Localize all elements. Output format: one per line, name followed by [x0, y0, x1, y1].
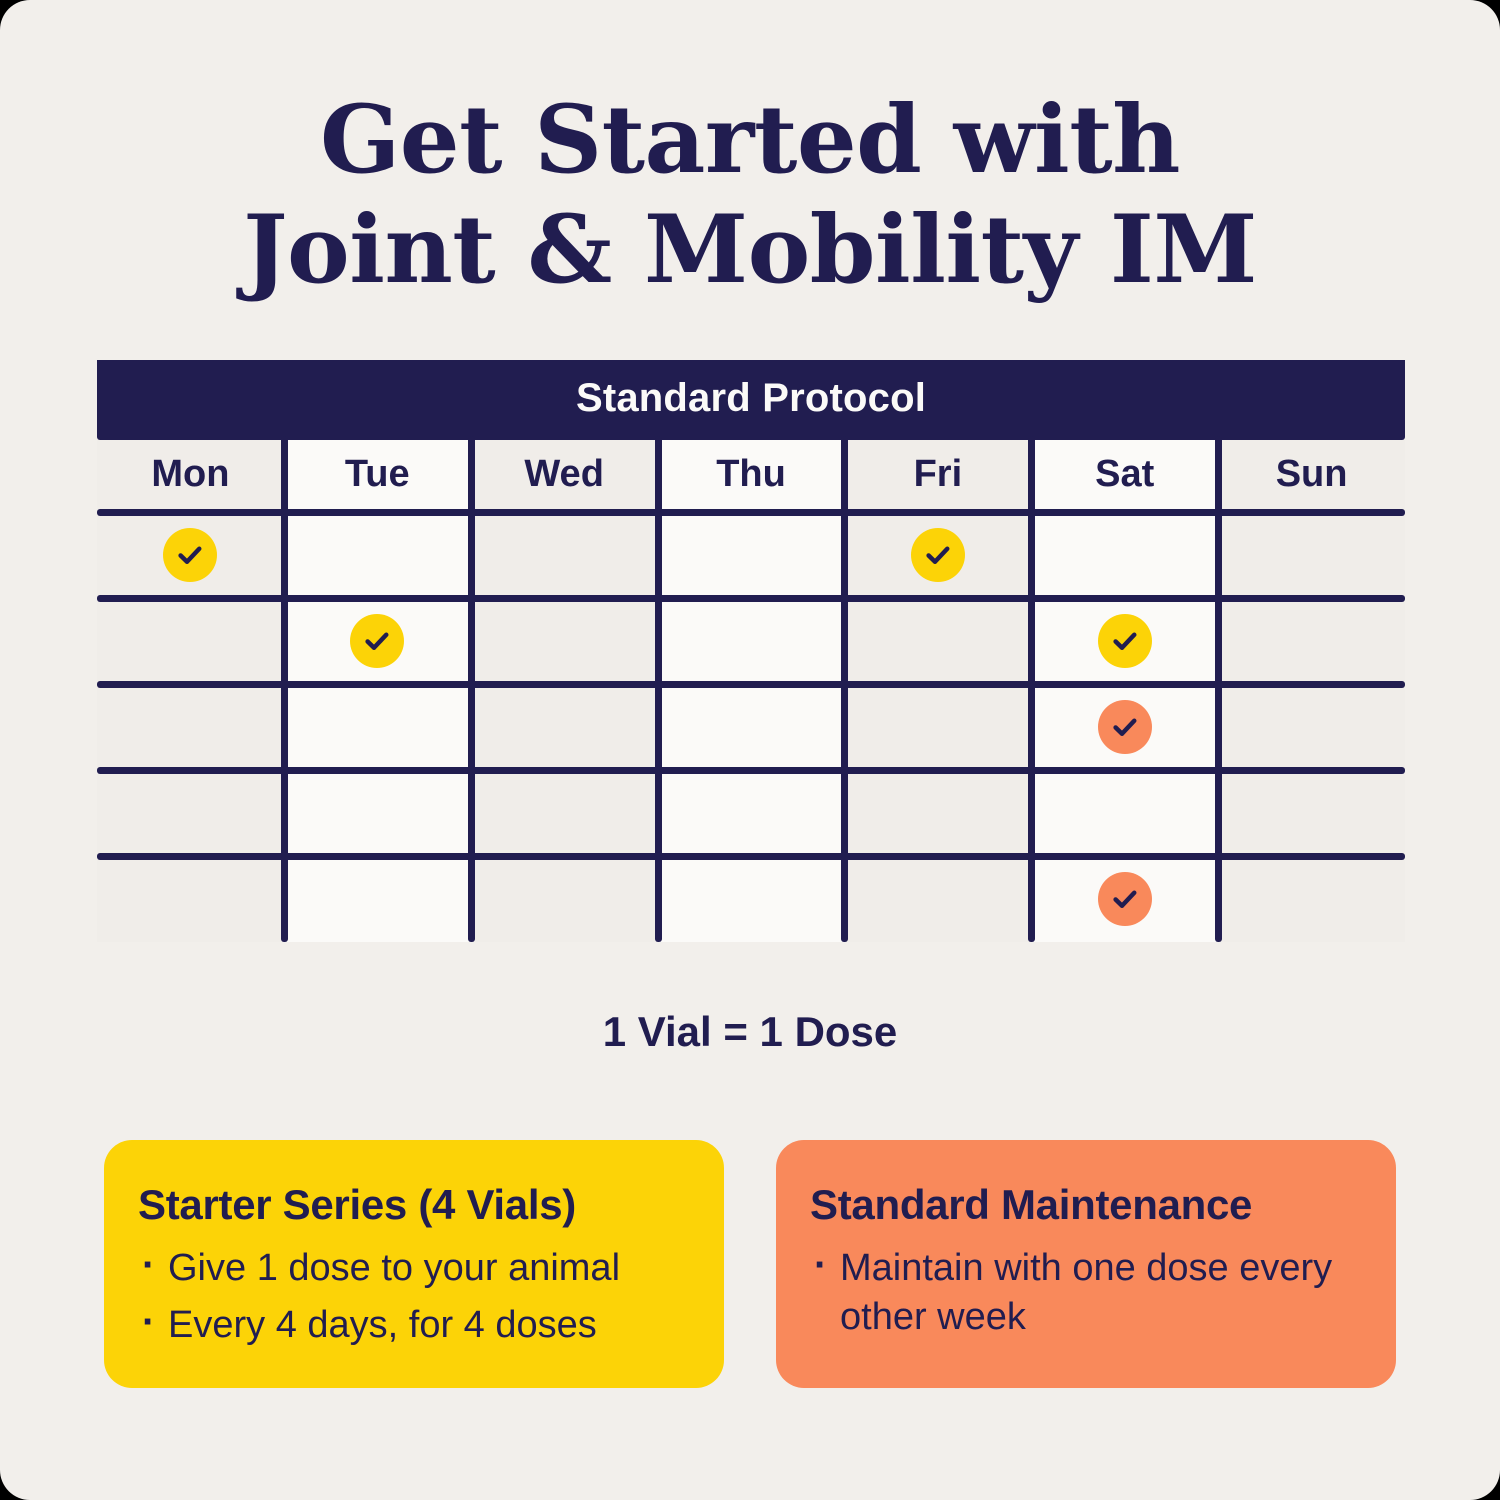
grid-vertical-rule [468, 436, 475, 942]
schedule-cell-sun-1[interactable] [1218, 512, 1405, 598]
day-header-fri: Fri [844, 436, 1031, 512]
day-header-label: Thu [716, 453, 786, 496]
schedule-cell-thu-1[interactable] [658, 512, 845, 598]
schedule-cell-mon-1[interactable] [97, 512, 284, 598]
legend-card-starter-series: Starter Series (4 Vials) Give 1 dose to … [104, 1140, 724, 1388]
schedule-cell-sun-3[interactable] [1218, 684, 1405, 770]
table-header-band: Standard Protocol [97, 360, 1405, 436]
schedule-cell-fri-3[interactable] [844, 684, 1031, 770]
protocol-schedule-table: Standard Protocol MonTueWedThuFriSatSun [97, 360, 1405, 942]
schedule-cell-wed-1[interactable] [471, 512, 658, 598]
schedule-cell-fri-4[interactable] [844, 770, 1031, 856]
day-header-mon: Mon [97, 436, 284, 512]
check-icon [1098, 614, 1152, 668]
schedule-cell-wed-3[interactable] [471, 684, 658, 770]
schedule-row [97, 598, 1405, 684]
grid-vertical-rule [1215, 436, 1222, 942]
vial-dose-note: 1 Vial = 1 Dose [0, 1008, 1500, 1056]
schedule-cell-sat-1[interactable] [1031, 512, 1218, 598]
schedule-cell-sat-4[interactable] [1031, 770, 1218, 856]
day-header-label: Mon [151, 453, 229, 496]
day-header-sat: Sat [1031, 436, 1218, 512]
grid-vertical-rule [655, 436, 662, 942]
schedule-cell-sun-5[interactable] [1218, 856, 1405, 942]
schedule-cell-tue-1[interactable] [284, 512, 471, 598]
schedule-cell-sat-3[interactable] [1031, 684, 1218, 770]
day-header-label: Sun [1276, 453, 1348, 496]
list-item: Maintain with one dose every other week [810, 1244, 1362, 1341]
day-header-row: MonTueWedThuFriSatSun [97, 436, 1405, 512]
schedule-cell-mon-4[interactable] [97, 770, 284, 856]
list-item: Every 4 days, for 4 doses [138, 1301, 690, 1350]
day-header-wed: Wed [471, 436, 658, 512]
grid-horizontal-rule [97, 433, 1405, 440]
grid-horizontal-rule [97, 509, 1405, 516]
schedule-cell-mon-2[interactable] [97, 598, 284, 684]
schedule-cell-tue-4[interactable] [284, 770, 471, 856]
legend-card-maintenance-list: Maintain with one dose every other week [810, 1244, 1362, 1341]
day-header-tue: Tue [284, 436, 471, 512]
schedule-row [97, 512, 1405, 598]
schedule-cell-sat-2[interactable] [1031, 598, 1218, 684]
schedule-cell-thu-2[interactable] [658, 598, 845, 684]
day-header-label: Tue [345, 453, 410, 496]
schedule-cell-thu-4[interactable] [658, 770, 845, 856]
schedule-cell-tue-2[interactable] [284, 598, 471, 684]
check-icon [1098, 872, 1152, 926]
day-header-thu: Thu [658, 436, 845, 512]
page-title-line-1: Get Started with [0, 86, 1500, 196]
schedule-cell-wed-2[interactable] [471, 598, 658, 684]
page-title: Get Started with Joint & Mobility IM [0, 86, 1500, 306]
legend-card-maintenance-heading: Standard Maintenance [810, 1182, 1362, 1228]
schedule-cell-mon-3[interactable] [97, 684, 284, 770]
schedule-grid: MonTueWedThuFriSatSun [97, 436, 1405, 942]
check-icon [350, 614, 404, 668]
grid-vertical-rule [281, 436, 288, 942]
grid-vertical-rule [841, 436, 848, 942]
day-header-sun: Sun [1218, 436, 1405, 512]
schedule-row [97, 856, 1405, 942]
schedule-cell-tue-5[interactable] [284, 856, 471, 942]
schedule-cell-fri-2[interactable] [844, 598, 1031, 684]
schedule-cell-wed-4[interactable] [471, 770, 658, 856]
table-header-label: Standard Protocol [576, 376, 926, 421]
day-header-label: Wed [524, 453, 604, 496]
grid-horizontal-rule [97, 767, 1405, 774]
schedule-row [97, 770, 1405, 856]
schedule-cell-sun-2[interactable] [1218, 598, 1405, 684]
schedule-cell-sat-5[interactable] [1031, 856, 1218, 942]
schedule-cell-wed-5[interactable] [471, 856, 658, 942]
day-header-label: Sat [1095, 453, 1154, 496]
check-icon [163, 528, 217, 582]
day-header-label: Fri [914, 453, 963, 496]
schedule-cell-sun-4[interactable] [1218, 770, 1405, 856]
check-icon [911, 528, 965, 582]
schedule-cell-thu-3[interactable] [658, 684, 845, 770]
schedule-cell-fri-1[interactable] [844, 512, 1031, 598]
infographic-page: Get Started with Joint & Mobility IM Sta… [0, 0, 1500, 1500]
check-icon [1098, 700, 1152, 754]
schedule-cell-tue-3[interactable] [284, 684, 471, 770]
schedule-cell-fri-5[interactable] [844, 856, 1031, 942]
grid-horizontal-rule [97, 853, 1405, 860]
legend-card-starter-heading: Starter Series (4 Vials) [138, 1182, 690, 1228]
list-item: Give 1 dose to your animal [138, 1244, 690, 1293]
grid-horizontal-rule [97, 681, 1405, 688]
legend-card-standard-maintenance: Standard Maintenance Maintain with one d… [776, 1140, 1396, 1388]
schedule-cell-mon-5[interactable] [97, 856, 284, 942]
grid-vertical-rule [1028, 436, 1035, 942]
page-title-line-2: Joint & Mobility IM [0, 196, 1500, 306]
schedule-cell-thu-5[interactable] [658, 856, 845, 942]
legend-card-starter-list: Give 1 dose to your animal Every 4 days,… [138, 1244, 690, 1349]
schedule-row [97, 684, 1405, 770]
grid-horizontal-rule [97, 595, 1405, 602]
